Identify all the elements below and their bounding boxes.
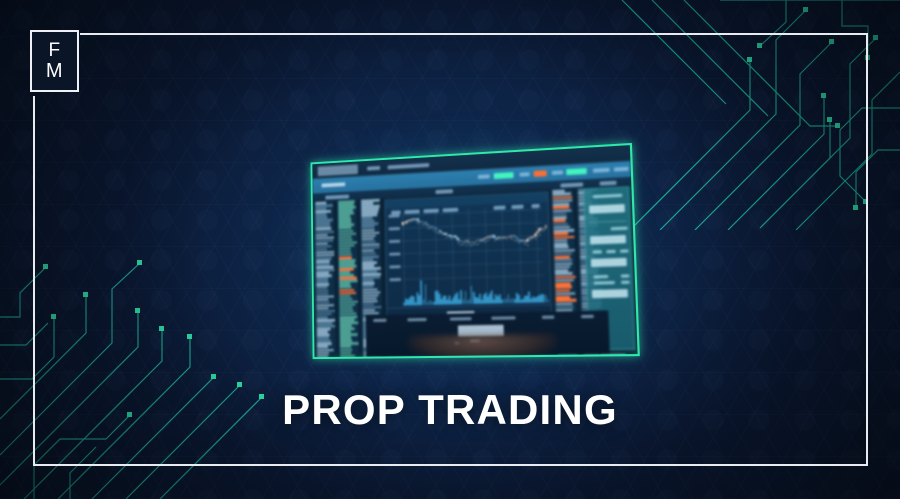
frame-border-bottom bbox=[33, 464, 868, 466]
frame-border-top bbox=[80, 33, 868, 35]
promo-banner: F M bbox=[0, 0, 900, 499]
fm-logo-letter-m: M bbox=[46, 61, 63, 81]
fm-logo-letter-f: F bbox=[48, 41, 60, 60]
volume-series bbox=[403, 276, 545, 306]
candlestick-series bbox=[402, 205, 544, 278]
trading-terminal-image bbox=[296, 142, 640, 364]
main-chart-panel bbox=[384, 191, 552, 317]
page-title: PROP TRADING bbox=[0, 386, 900, 434]
terminal-screen-frame bbox=[310, 143, 639, 359]
fm-logo: F M bbox=[30, 30, 79, 92]
terminal-screen-content bbox=[312, 145, 637, 357]
bottom-toolbar bbox=[366, 310, 610, 356]
